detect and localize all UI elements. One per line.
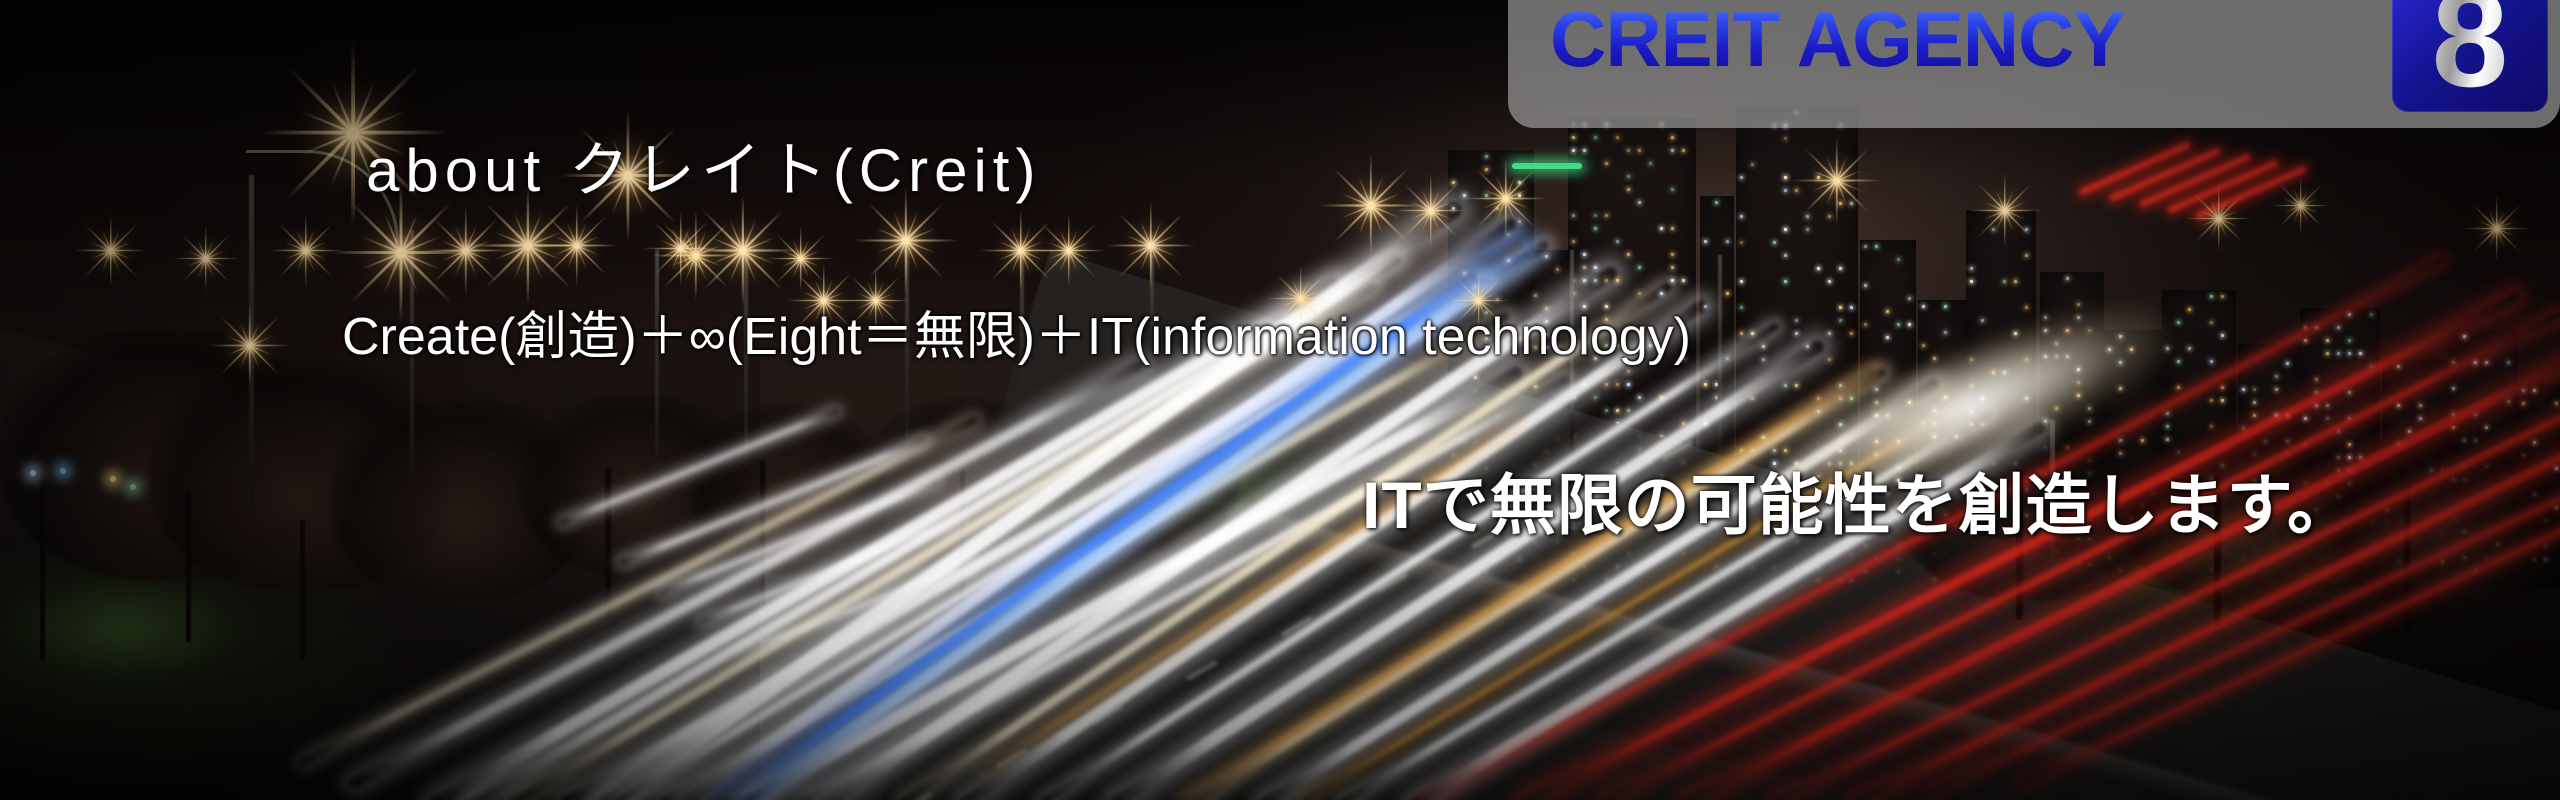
eight-icon: 8 <box>2392 0 2548 108</box>
headline-about: about クレイト(Creit) <box>366 122 1041 209</box>
logo-wordmark[interactable]: CREIT AGENCY <box>1550 0 2125 85</box>
hero-banner: about クレイト(Creit) Create(創造)＋∞(Eight＝無限)… <box>0 0 2560 800</box>
headline-tagline: ITで無限の可能性を創造します。 <box>1362 452 2354 548</box>
logo-eight-badge[interactable]: 8 <box>2392 0 2548 112</box>
headline-formula: Create(創造)＋∞(Eight＝無限)＋IT(information te… <box>342 294 1691 369</box>
logo-banner[interactable]: CREIT AGENCY 8 <box>1508 0 2560 128</box>
